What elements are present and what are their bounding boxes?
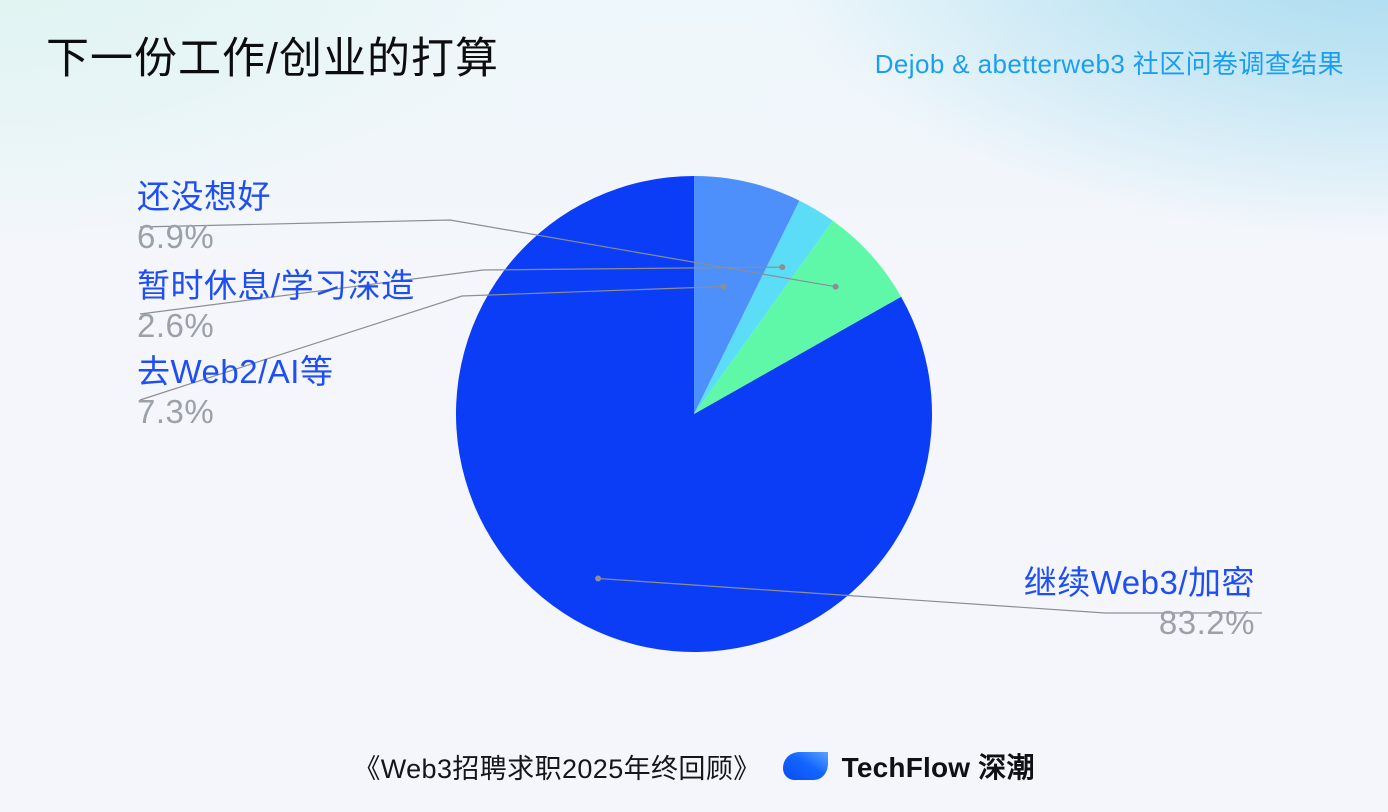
brand-name: TechFlow 深潮 bbox=[842, 746, 1035, 786]
pie-slice-group bbox=[456, 176, 932, 652]
callout-stay-in-web3: 继续Web3/加密 83.2% bbox=[1024, 565, 1255, 643]
callout-value: 6.9% bbox=[137, 218, 271, 257]
report-title-caption: 《Web3招聘求职2025年终回顾》 bbox=[353, 747, 760, 786]
slide-canvas: 下一份工作/创业的打算 Dejob & abetterweb3 社区问卷调查结果… bbox=[0, 0, 1388, 812]
callout-value: 83.2% bbox=[1024, 604, 1255, 643]
leader-anchor-dot bbox=[721, 284, 727, 290]
leader-anchor-dot bbox=[779, 264, 785, 270]
callout-still-undecided: 还没想好 6.9% bbox=[137, 179, 271, 257]
callout-rest-or-study: 暂时休息/学习深造 2.6% bbox=[137, 268, 415, 346]
callout-label: 去Web2/AI等 bbox=[137, 354, 333, 391]
callout-label: 继续Web3/加密 bbox=[1024, 565, 1255, 602]
leader-anchor-dot bbox=[833, 284, 839, 290]
techflow-leaf-logo-icon bbox=[783, 751, 829, 781]
callout-value: 2.6% bbox=[137, 307, 415, 346]
brand-lockup: TechFlow 深潮 bbox=[783, 746, 1035, 786]
callout-move-to-web2-ai: 去Web2/AI等 7.3% bbox=[137, 354, 333, 432]
callout-label: 还没想好 bbox=[137, 179, 271, 216]
callout-label: 暂时休息/学习深造 bbox=[137, 268, 415, 305]
footer: 《Web3招聘求职2025年终回顾》 TechFlow 深潮 bbox=[0, 746, 1388, 786]
pie-chart: 还没想好 6.9% 暂时休息/学习深造 2.6% 去Web2/AI等 7.3% … bbox=[0, 0, 1388, 812]
callout-value: 7.3% bbox=[137, 393, 333, 432]
leader-anchor-dot bbox=[595, 576, 601, 582]
